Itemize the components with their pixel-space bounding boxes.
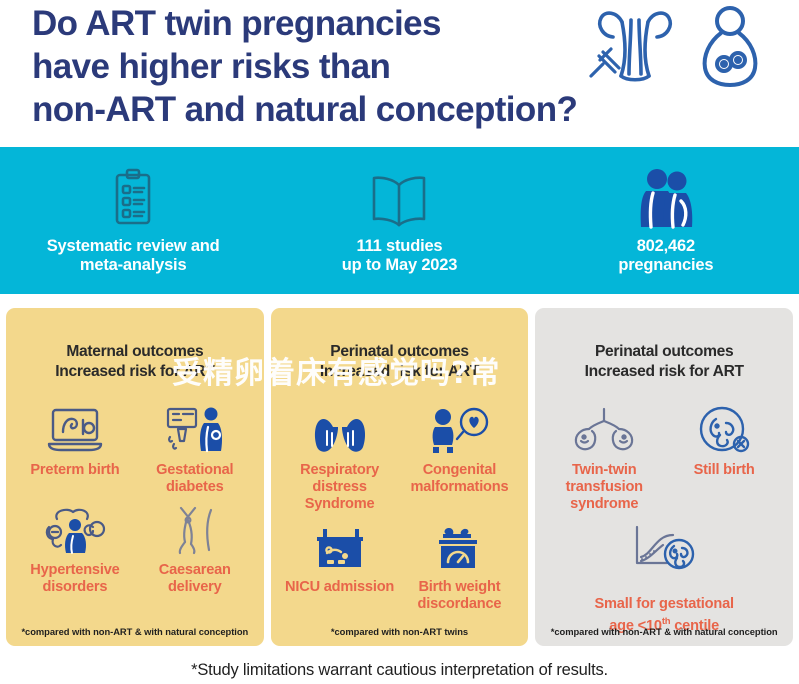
page-title-line-1: Do ART twin pregnancies: [32, 2, 632, 45]
band-stat-label: 111 studies up to May 2023: [342, 237, 458, 275]
pregnant-woman-twins-icon: [697, 6, 763, 93]
panel-title: Perinatal outcomes Increased risk for AR…: [545, 342, 783, 382]
outcome-label: Twin-twin transfusion syndrome: [566, 462, 643, 513]
incubator-icon: [311, 519, 369, 575]
outcome-small-for-gestational-age: Small for gestational age <10th centile: [545, 517, 783, 635]
panel-items-grid: Respiratory distress Syndrome: [281, 400, 519, 646]
band-stat-pregnancies-count: 802,462 pregnancies: [533, 147, 799, 294]
band-stat-label: Systematic review and meta-analysis: [47, 237, 220, 275]
clipboard-checklist-icon: [109, 167, 157, 229]
two-pregnant-people-icon: [637, 167, 695, 229]
outcome-gestational-diabetes: Gestational diabetes: [136, 400, 254, 496]
panel-perinatal-outcomes-natural: Perinatal outcomes Increased risk for AR…: [535, 308, 793, 646]
outcomes-panels: Maternal outcomes Increased risk for ART: [0, 308, 799, 646]
baby-heart-icon: [427, 402, 491, 458]
panel-title: Perinatal outcomes Increased risk for AR…: [281, 342, 519, 382]
band-stat-systematic-review: Systematic review and meta-analysis: [0, 147, 266, 294]
outcome-nicu-admission: NICU admission: [281, 517, 399, 613]
outcome-congenital-malformations: Congenital malformations: [401, 400, 519, 513]
outcome-label: Respiratory distress Syndrome: [281, 462, 399, 513]
open-book-icon: [368, 167, 430, 229]
glucose-meter-pregnant-icon: [164, 402, 226, 458]
outcome-label: Caesarean delivery: [159, 562, 231, 596]
outcome-label: Preterm birth: [30, 462, 119, 479]
page-title-line-3: non-ART and natural conception?: [32, 88, 632, 131]
band-stat-studies-count: 111 studies up to May 2023: [266, 147, 532, 294]
outcome-twin-twin-transfusion-syndrome: Twin-twin transfusion syndrome: [545, 400, 663, 513]
panel-footnote: *compared with non-ART & with natural co…: [6, 626, 264, 637]
outcome-caesarean-delivery: Caesarean delivery: [136, 500, 254, 596]
lungs-icon: [311, 402, 369, 458]
baby-scale-icon: [431, 519, 487, 575]
stillbirth-icon: [696, 402, 752, 458]
surgical-scissors-icon: [167, 502, 223, 558]
panel-perinatal-outcomes-twins: Perinatal outcomes Increased risk for AR…: [271, 308, 529, 646]
outcome-respiratory-distress-syndrome: Respiratory distress Syndrome: [281, 400, 399, 513]
outcome-label: Birth weight discordance: [418, 579, 502, 613]
panel-maternal-outcomes: Maternal outcomes Increased risk for ART: [6, 308, 264, 646]
panel-items-grid: Preterm birth: [16, 400, 254, 646]
uterus-syringe-icon: [587, 6, 679, 89]
twin-fetuses-icon: [571, 402, 637, 458]
growth-chart-baby-icon: [627, 519, 701, 575]
outcome-hypertensive-disorders: Hypertensive disorders: [16, 500, 134, 596]
page-title: Do ART twin pregnancies have higher risk…: [32, 2, 632, 131]
study-limitations-footer: *Study limitations warrant cautious inte…: [0, 661, 799, 680]
outcome-preterm-birth: Preterm birth: [16, 400, 134, 496]
ultrasound-monitor-icon: [45, 402, 105, 458]
outcome-label: Hypertensive disorders: [30, 562, 119, 596]
outcome-still-birth: Still birth: [665, 400, 783, 513]
page-title-line-2: have higher risks than: [32, 45, 632, 88]
panel-footnote: *compared with non-ART twins: [271, 626, 529, 637]
header-icon-group: [587, 4, 777, 96]
outcome-label: Still birth: [694, 462, 755, 479]
outcome-birth-weight-discordance: Birth weight discordance: [401, 517, 519, 613]
band-stat-label: 802,462 pregnancies: [618, 237, 713, 275]
infographic-page: Do ART twin pregnancies have higher risk…: [0, 0, 799, 684]
panel-title: Maternal outcomes Increased risk for ART: [16, 342, 254, 382]
header: Do ART twin pregnancies have higher risk…: [0, 0, 799, 145]
panel-items-grid: Twin-twin transfusion syndrome: [545, 400, 783, 646]
panel-footnote: *compared with non-ART & with natural co…: [535, 626, 793, 637]
blood-pressure-pregnant-icon: [43, 502, 107, 558]
study-summary-band: Systematic review and meta-analysis 111 …: [0, 147, 799, 294]
outcome-label: NICU admission: [285, 579, 394, 596]
outcome-label: Gestational diabetes: [156, 462, 233, 496]
outcome-label: Congenital malformations: [410, 462, 508, 496]
